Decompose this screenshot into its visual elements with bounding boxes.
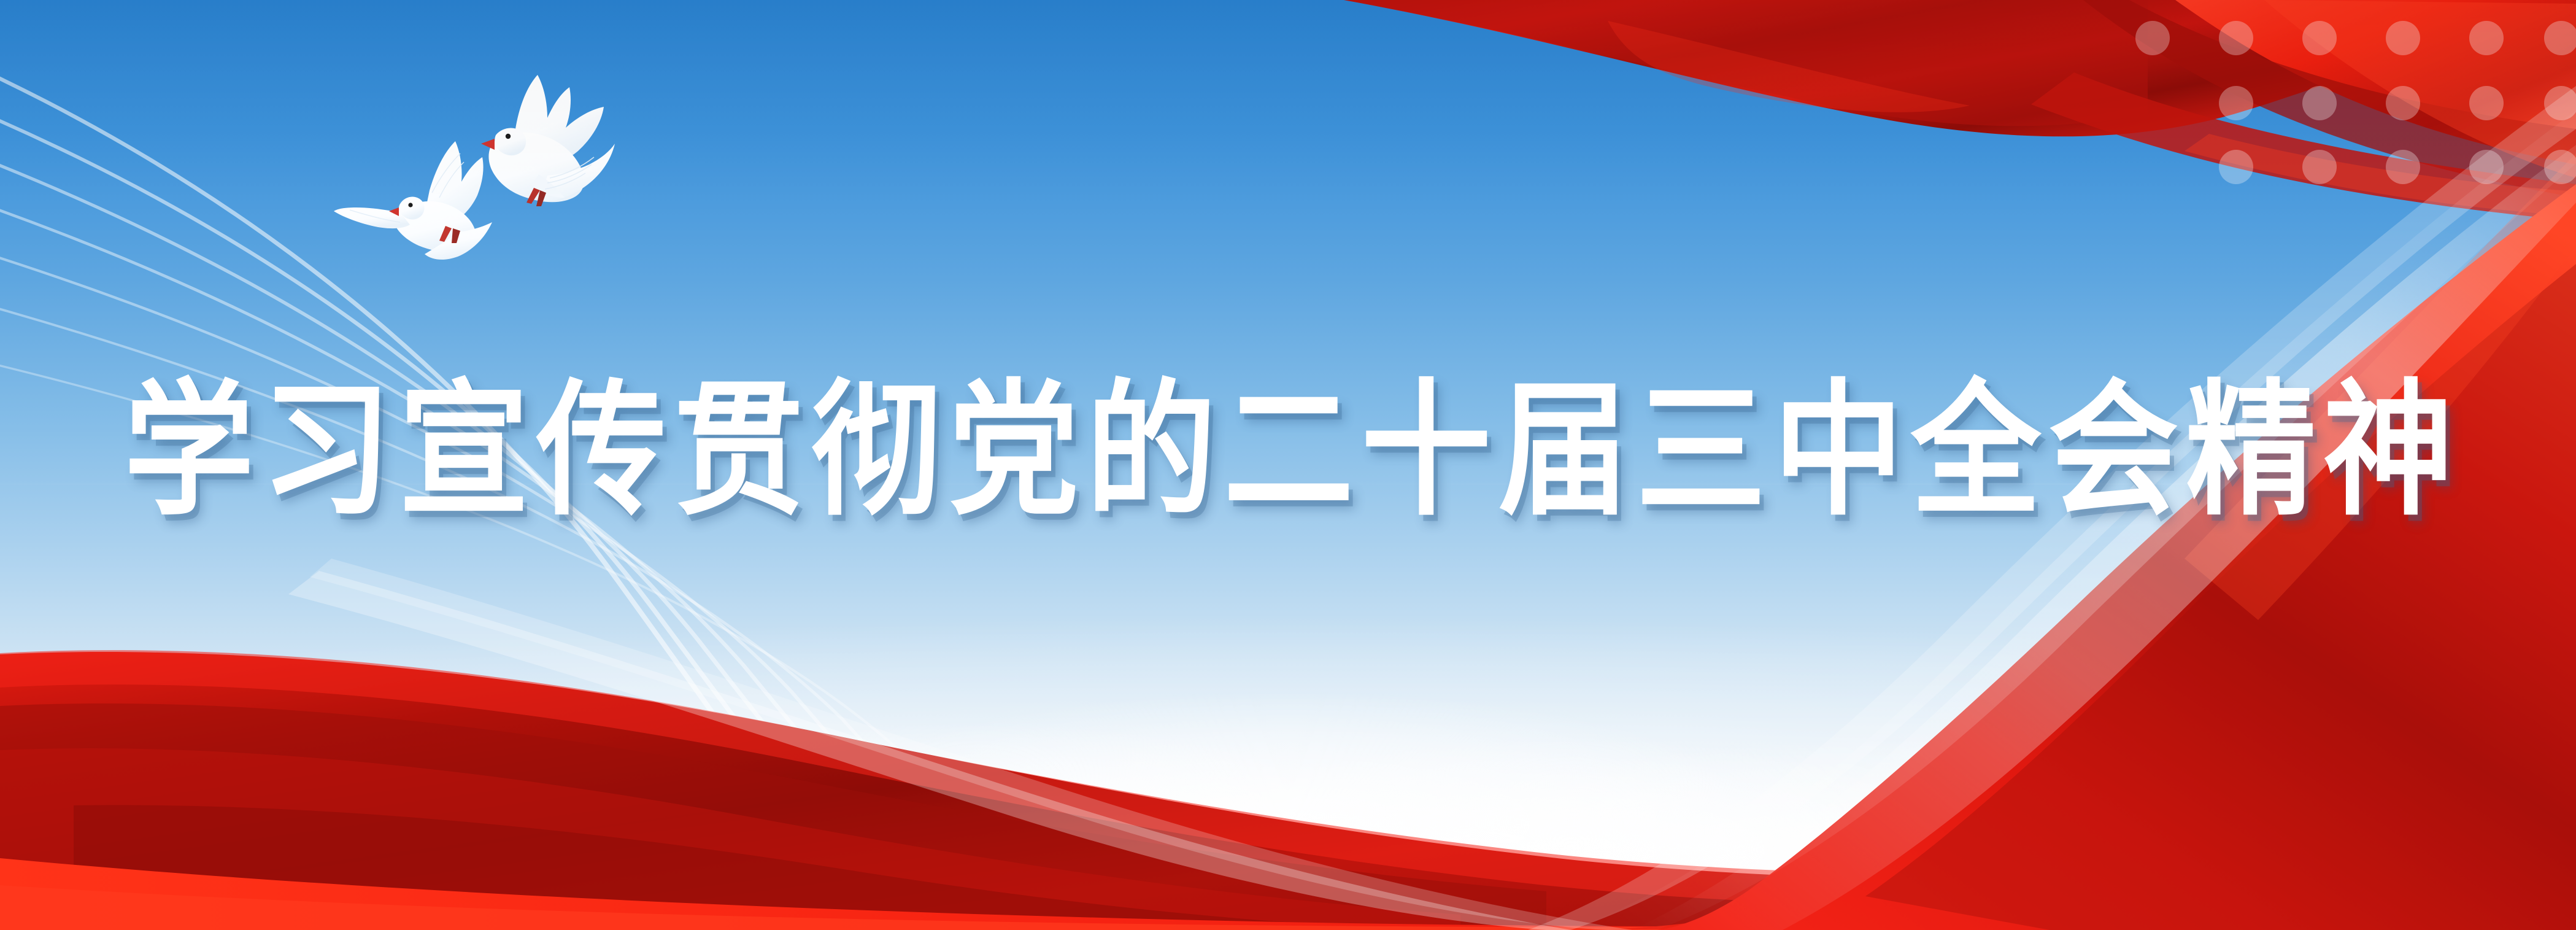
banner-root: 学习宣传贯彻党的二十届三中全会精神 — [0, 0, 2576, 930]
dove-left — [334, 141, 492, 260]
dot-grid — [2110, 0, 2576, 184]
doves-group — [331, 43, 626, 276]
dove-right — [481, 75, 615, 206]
